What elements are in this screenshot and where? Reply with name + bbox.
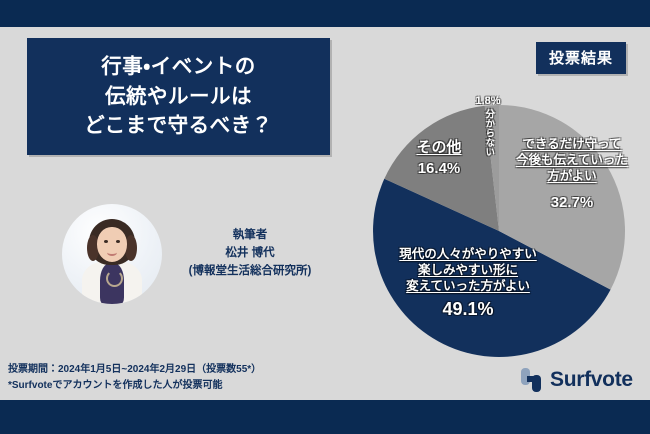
avatar-face: [97, 227, 127, 262]
status-badge: 投票結果: [536, 42, 626, 74]
pie-caption-keep-2: 今後も伝えていった: [516, 153, 628, 167]
voting-period: 投票期間：2024年1月5日~2024年2月29日（投票数55*）: [8, 362, 261, 378]
author-affiliation: (博報堂生活総合研究所): [170, 263, 330, 281]
pie-value-change: 49.1%: [373, 298, 563, 321]
surfvote-mark-right-bar: [532, 375, 541, 392]
voting-note: *Surfvoteでアカウントを作成した人が投票可能: [8, 378, 261, 394]
avatar-smile: [107, 249, 117, 256]
pie-label-change: 現代の人々がやりやすい 楽しみやすい形に 変えていった方がよい 49.1%: [373, 246, 563, 321]
top-accent-bar: [0, 0, 650, 27]
author-name: 松井 博代: [170, 245, 330, 263]
pie-label-keep: できるだけ守って 今後も伝えていった 方がよい 32.7%: [497, 136, 647, 212]
avatar-eye-left: [104, 240, 108, 243]
surfvote-logo: Surfvote: [521, 368, 633, 392]
title-line-1: 行事・イベントの: [84, 52, 272, 82]
pie-caption-keep-1: できるだけ守って: [522, 137, 621, 151]
surfvote-mark-icon: [521, 368, 543, 392]
author-block: 執筆者 松井 博代 (博報堂生活総合研究所): [62, 198, 330, 310]
pie-value-keep: 32.7%: [497, 193, 647, 212]
author-text: 執筆者 松井 博代 (博報堂生活総合研究所): [170, 227, 330, 280]
pie-caption-change-2: 楽しみやすい形に: [418, 263, 518, 277]
avatar-necklace: [106, 270, 123, 287]
pie-caption-change-1: 現代の人々がやりやすい: [399, 247, 537, 261]
surfvote-wordmark: Surfvote: [550, 368, 633, 392]
footnotes: 投票期間：2024年1月5日~2024年2月29日（投票数55*） *Surfv…: [8, 362, 261, 394]
pie-caption-change-3: 変えていった方がよい: [406, 279, 530, 293]
pie-label-other: その他 16.4%: [393, 138, 485, 178]
avatar-hair-right: [125, 235, 137, 261]
avatar-eye-right: [116, 240, 120, 243]
pie-caption-other: その他: [416, 139, 461, 156]
pie-value-unsure: 1.8%: [463, 94, 513, 108]
title-line-3: どこまで守るべき？: [84, 111, 272, 141]
pie-value-other: 16.4%: [393, 159, 485, 178]
pie-caption-keep-3: 方がよい: [547, 169, 596, 183]
voting-result-infographic: { "theme": { "navy": "#12305c", "navy_da…: [0, 0, 650, 434]
page-title: 行事・イベントの 伝統やルールは どこまで守るべき？: [84, 52, 272, 141]
pie-chart: 1.8% 分からない その他 16.4% できるだけ守って 今後も伝えていった …: [355, 88, 650, 368]
avatar: [62, 204, 162, 304]
author-role: 執筆者: [170, 227, 330, 245]
bottom-accent-bar: [0, 400, 650, 434]
title-line-2: 伝統やルールは: [84, 82, 272, 112]
question-title-card: 行事・イベントの 伝統やルールは どこまで守るべき？: [27, 38, 330, 155]
